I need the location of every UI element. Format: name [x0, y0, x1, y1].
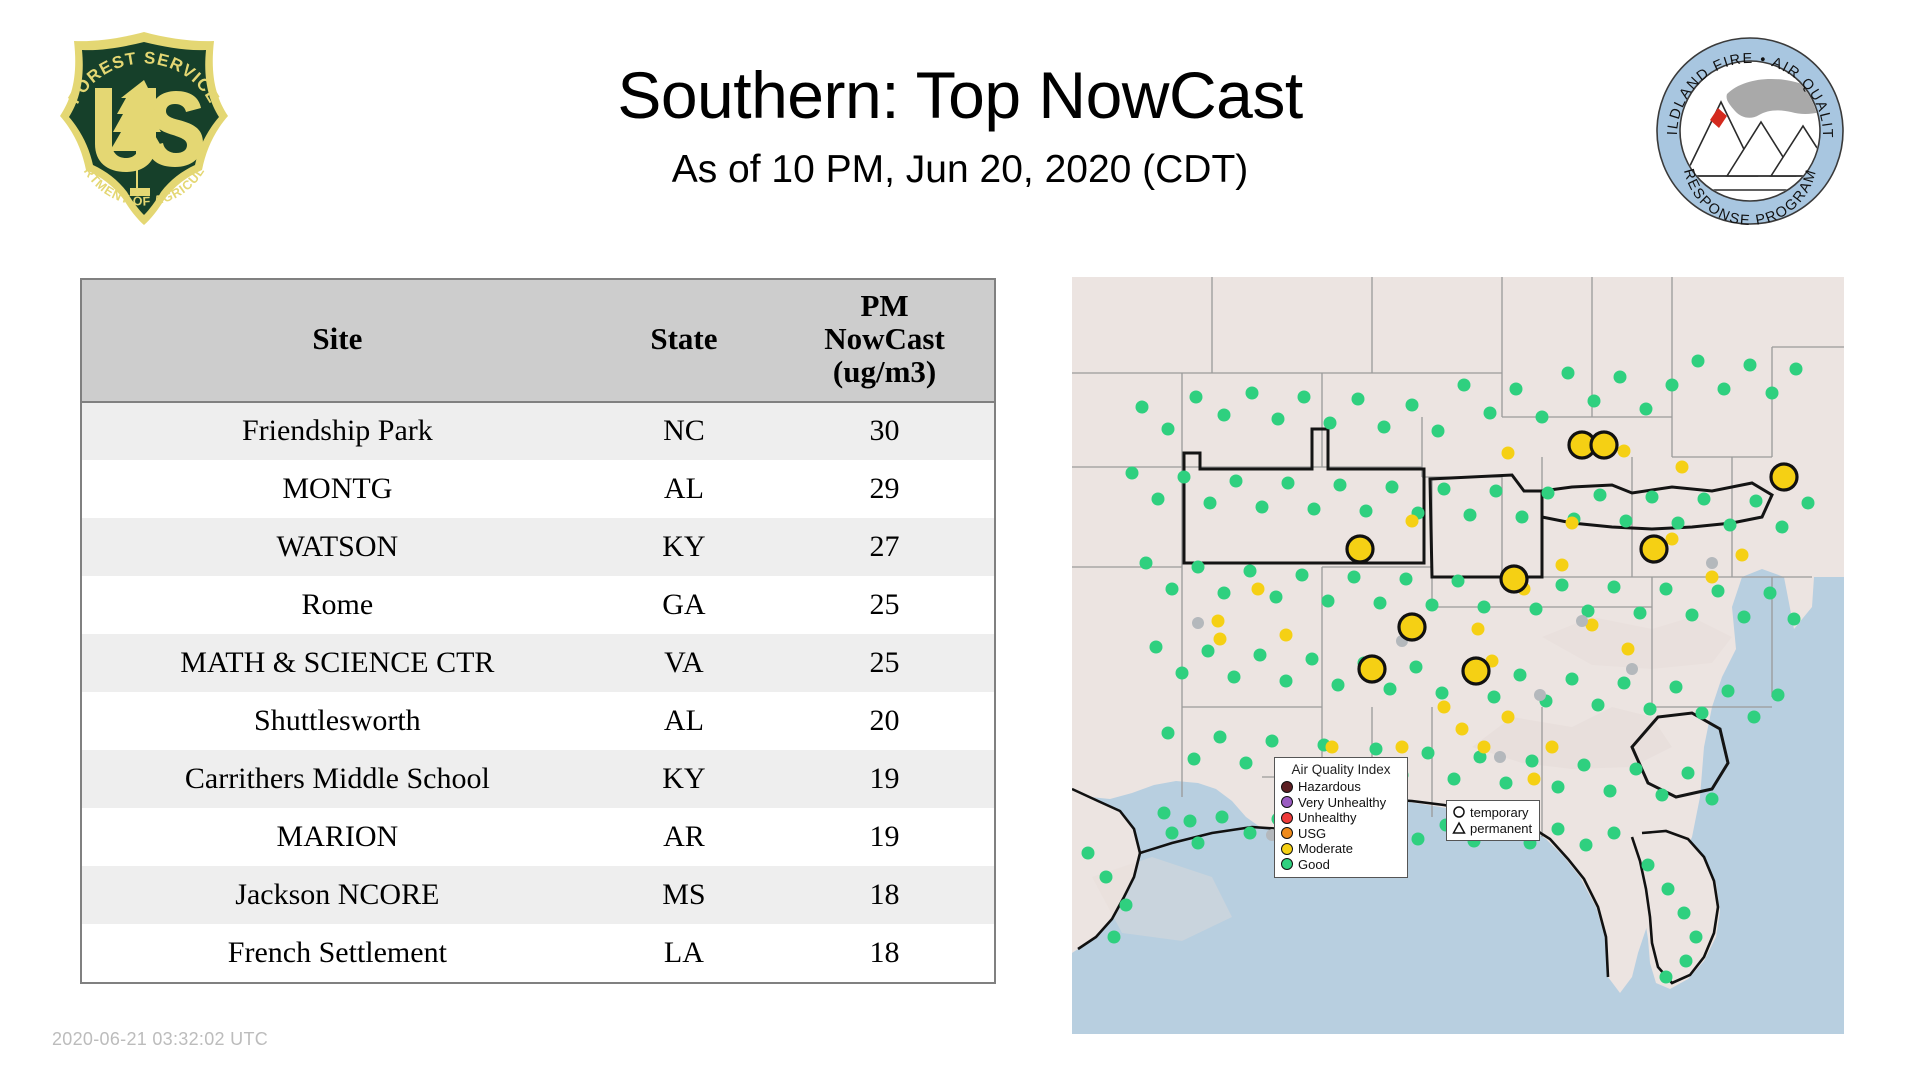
circle-icon: [1452, 805, 1466, 819]
cell-pm: 18: [775, 924, 994, 982]
cell-pm: 19: [775, 808, 994, 866]
cell-pm: 20: [775, 692, 994, 750]
aqi-legend-item-moderate: Moderate: [1281, 841, 1401, 857]
site-type-legend-label: permanent: [1470, 822, 1532, 835]
table-row: Friendship Park NC 30: [82, 402, 994, 460]
site-type-legend: temporary permanent: [1446, 800, 1540, 841]
forest-service-logo: FOREST SERVICE DEPARTMENT OF AGRICULTURE: [52, 28, 237, 228]
table-row: MONTG AL 29: [82, 460, 994, 518]
table-row: WATSON KY 27: [82, 518, 994, 576]
moderate-color-dot-icon: [1281, 843, 1293, 855]
column-header-pm-line1: PM: [779, 290, 990, 323]
cell-state: VA: [593, 634, 775, 692]
table-row: Carrithers Middle School KY 19: [82, 750, 994, 808]
column-header-state: State: [593, 280, 775, 402]
page-title: Southern: Top NowCast: [360, 57, 1560, 133]
cell-site: WATSON: [82, 518, 593, 576]
very-unhealthy-color-dot-icon: [1281, 796, 1293, 808]
cell-site: MONTG: [82, 460, 593, 518]
map-marker-top-site: [1463, 658, 1489, 684]
cell-pm: 18: [775, 866, 994, 924]
map-marker-top-site: [1359, 656, 1385, 682]
hazardous-color-dot-icon: [1281, 781, 1293, 793]
cell-state: KY: [593, 750, 775, 808]
cell-site: Carrithers Middle School: [82, 750, 593, 808]
map-marker-top-site: [1591, 432, 1617, 458]
map-marker-top-site: [1641, 536, 1667, 562]
unhealthy-color-dot-icon: [1281, 812, 1293, 824]
table-row: MARION AR 19: [82, 808, 994, 866]
site-type-legend-label: temporary: [1470, 806, 1529, 819]
cell-site: Jackson NCORE: [82, 866, 593, 924]
cell-state: AL: [593, 460, 775, 518]
aqi-legend-label: USG: [1298, 827, 1326, 840]
cell-site: MARION: [82, 808, 593, 866]
site-type-legend-item-temporary: temporary: [1452, 804, 1532, 820]
aqi-legend: Air Quality Index Hazardous Very Unhealt…: [1274, 757, 1408, 878]
cell-pm: 29: [775, 460, 994, 518]
nowcast-table-container: Site State PM NowCast (ug/m3) Friendship…: [80, 278, 996, 984]
generation-timestamp: 2020-06-21 03:32:02 UTC: [52, 1029, 268, 1050]
cell-state: LA: [593, 924, 775, 982]
aqi-legend-label: Very Unhealthy: [1298, 796, 1386, 809]
aqi-legend-item-usg: USG: [1281, 826, 1401, 842]
map-marker-top-site: [1501, 566, 1527, 592]
page-subtitle: As of 10 PM, Jun 20, 2020 (CDT): [360, 148, 1560, 192]
good-color-dot-icon: [1281, 858, 1293, 870]
cell-site: French Settlement: [82, 924, 593, 982]
wfaqrp-logo: WILDLAND FIRE • AIR QUALITY RESPONSE PRO…: [1655, 36, 1845, 226]
cell-pm: 30: [775, 402, 994, 460]
usg-color-dot-icon: [1281, 827, 1293, 839]
table-row: French Settlement LA 18: [82, 924, 994, 982]
cell-state: MS: [593, 866, 775, 924]
aqi-legend-label: Moderate: [1298, 842, 1353, 855]
cell-pm: 25: [775, 576, 994, 634]
aqi-legend-label: Good: [1298, 858, 1330, 871]
cell-state: AL: [593, 692, 775, 750]
cell-state: NC: [593, 402, 775, 460]
aqi-legend-label: Unhealthy: [1298, 811, 1357, 824]
table-row: MATH & SCIENCE CTR VA 25: [82, 634, 994, 692]
map-marker-top-site: [1347, 536, 1373, 562]
slide-canvas: FOREST SERVICE DEPARTMENT OF AGRICULTURE: [0, 0, 1920, 1080]
map-marker-top-site: [1399, 614, 1425, 640]
table-row: Jackson NCORE MS 18: [82, 866, 994, 924]
table-body: Friendship Park NC 30 MONTG AL 29 WATSON…: [82, 402, 994, 982]
aqi-legend-item-hazardous: Hazardous: [1281, 779, 1401, 795]
aqi-legend-label: Hazardous: [1298, 780, 1361, 793]
column-header-pm-line2: NowCast: [779, 323, 990, 356]
cell-site: Rome: [82, 576, 593, 634]
cell-state: AR: [593, 808, 775, 866]
cell-site: Friendship Park: [82, 402, 593, 460]
column-header-site: Site: [82, 280, 593, 402]
cell-state: GA: [593, 576, 775, 634]
triangle-icon: [1452, 821, 1466, 835]
cell-pm: 25: [775, 634, 994, 692]
table-header-row: Site State PM NowCast (ug/m3): [82, 280, 994, 402]
cell-site: MATH & SCIENCE CTR: [82, 634, 593, 692]
air-quality-map[interactable]: [1072, 277, 1844, 1034]
cell-state: KY: [593, 518, 775, 576]
nowcast-table: Site State PM NowCast (ug/m3) Friendship…: [82, 280, 994, 982]
cell-site: Shuttlesworth: [82, 692, 593, 750]
cell-pm: 19: [775, 750, 994, 808]
table-row: Shuttlesworth AL 20: [82, 692, 994, 750]
aqi-legend-item-very-unhealthy: Very Unhealthy: [1281, 795, 1401, 811]
cell-pm: 27: [775, 518, 994, 576]
aqi-legend-title: Air Quality Index: [1281, 762, 1401, 777]
table-row: Rome GA 25: [82, 576, 994, 634]
column-header-pm-nowcast: PM NowCast (ug/m3): [775, 280, 994, 402]
map-marker-top-site: [1771, 464, 1797, 490]
column-header-pm-line3: (ug/m3): [779, 356, 990, 389]
table-header: Site State PM NowCast (ug/m3): [82, 280, 994, 402]
aqi-legend-item-good: Good: [1281, 857, 1401, 873]
site-type-legend-item-permanent: permanent: [1452, 820, 1532, 836]
aqi-legend-item-unhealthy: Unhealthy: [1281, 810, 1401, 826]
